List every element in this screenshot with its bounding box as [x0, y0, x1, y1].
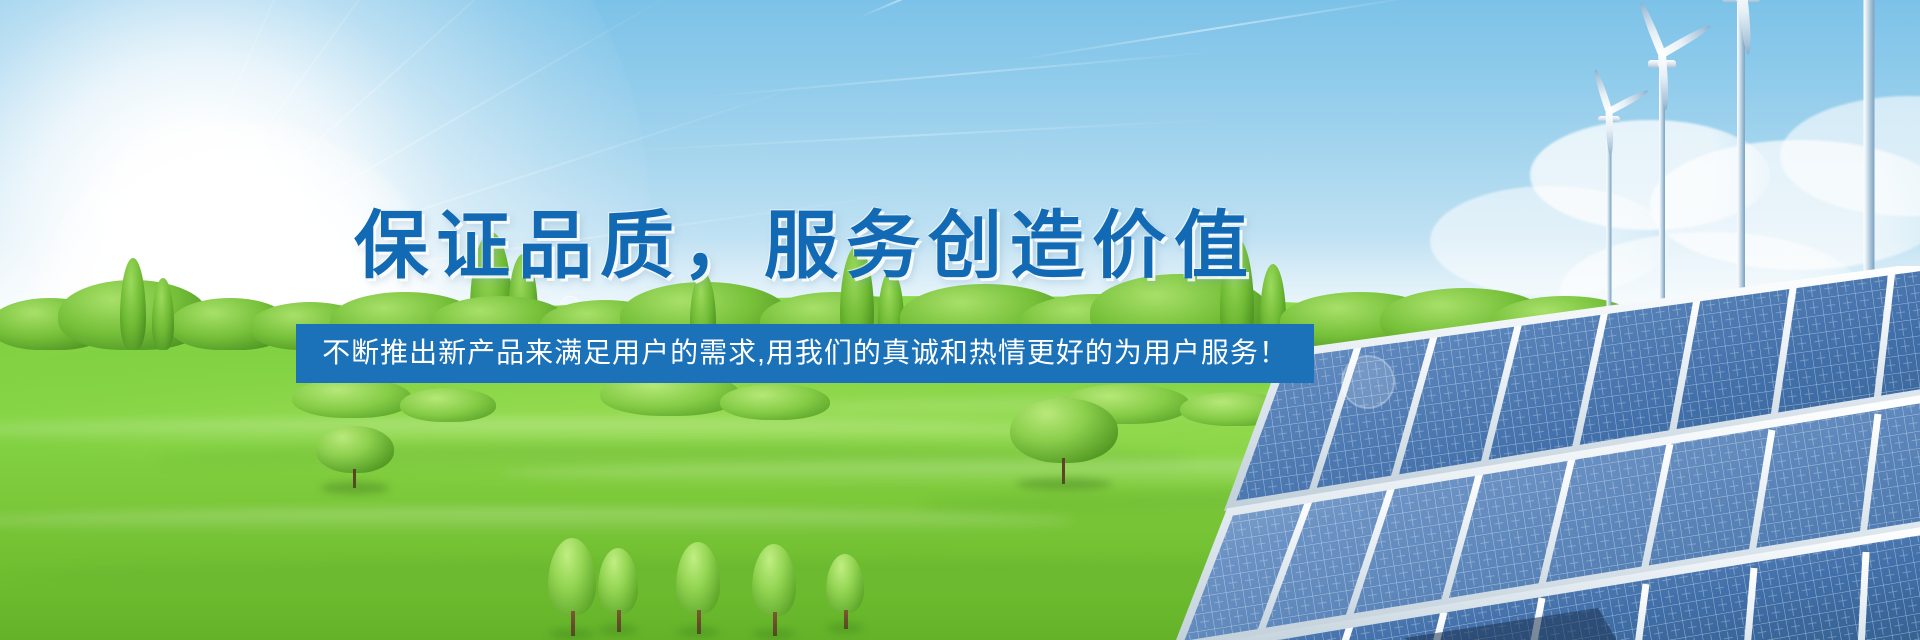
round-tree-small — [316, 426, 394, 488]
banner-headline: 保证品质，服务创造价值 — [0, 186, 1920, 293]
solar-panel-array — [1168, 266, 1920, 640]
banner-subtitle: 不断推出新产品来满足用户的需求,用我们的真诚和热情更好的为用户服务！ — [296, 324, 1314, 383]
banner-subtitle-bar: 不断推出新产品来满足用户的需求,用我们的真诚和热情更好的为用户服务！ — [0, 324, 1920, 383]
round-tree — [1010, 398, 1118, 484]
hero-banner: 保证品质，服务创造价值 不断推出新产品来满足用户的需求,用我们的真诚和热情更好的… — [0, 0, 1920, 640]
